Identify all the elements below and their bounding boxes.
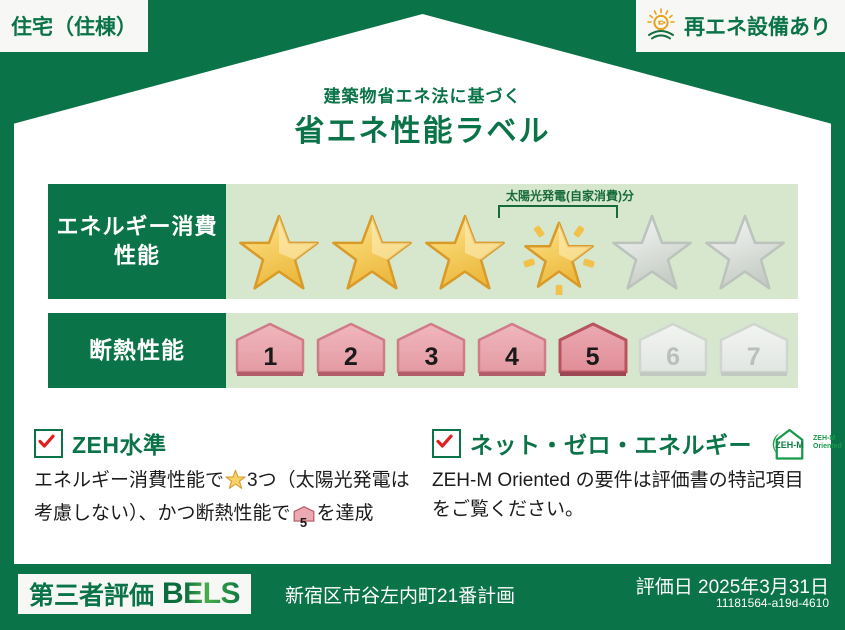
house-grade-icon: 5 <box>293 505 315 534</box>
feature-zeh-title: ZEH水準 <box>72 426 167 460</box>
energy-performance-body: 太陽光発電(自家消費)分 <box>226 184 798 299</box>
star-empty <box>610 211 694 295</box>
bels-energy-label: 住宅（住棟） 再エネ設備あ <box>0 0 845 630</box>
star-icon <box>225 469 246 500</box>
grade-house-filled: 2 <box>314 320 388 380</box>
grade-house-empty: 7 <box>717 320 791 380</box>
renewable-energy-badge: 再エネ設備あり <box>636 0 845 52</box>
bels-certification-mark: 第三者評価 BELS <box>18 574 251 614</box>
zeh-desc-part1: エネルギー消費性能で <box>34 470 224 491</box>
grade-number: 5 <box>556 343 630 372</box>
star-empty <box>703 211 787 295</box>
check-icon <box>432 429 461 458</box>
zeh-m-sub-line2: Oriented <box>813 443 842 450</box>
zeh-m-logo-sub: ZEH-M Oriented <box>813 435 842 451</box>
svg-text:ZEH-M: ZEH-M <box>775 440 804 450</box>
zeh-m-logo: ZEH-M ZEH-M Oriented <box>766 427 842 460</box>
grade-house-filled: 1 <box>233 320 307 380</box>
star-filled <box>237 211 321 295</box>
feature-nze-header: ネット・ゼロ・エネルギー ZEH-M ZEH-M Oriented <box>432 428 817 458</box>
grade-number: 6 <box>636 343 710 372</box>
renewable-badge-label: 再エネ設備あり <box>684 11 831 41</box>
grade-house-filled: 3 <box>394 320 468 380</box>
energy-performance-label: エネルギー消費性能 <box>48 184 226 299</box>
bels-en-logo: BELS <box>162 577 240 611</box>
document-id: 11181564-a19d-4610 <box>716 596 829 610</box>
check-icon <box>34 429 63 458</box>
house-grade-number: 5 <box>293 513 315 533</box>
grade-number: 3 <box>394 343 468 372</box>
grade-house-empty: 6 <box>636 320 710 380</box>
star-filled <box>330 211 414 295</box>
insulation-performance-row: 断熱性能 1 <box>48 313 798 388</box>
insulation-performance-label: 断熱性能 <box>48 313 226 388</box>
page-title: 省エネ性能ラベル <box>0 106 845 150</box>
grade-house-filled: 4 <box>475 320 549 380</box>
grade-number: 2 <box>314 343 388 372</box>
evaluation-date: 評価日 2025年3月31日 <box>636 572 829 599</box>
energy-performance-row: エネルギー消費性能 太陽光発電(自家消費)分 <box>48 184 798 299</box>
zeh-m-sub-line1: ZEH-M <box>813 435 835 442</box>
star-filled-sparkle <box>517 211 601 295</box>
solar-annotation-text: 太陽光発電(自家消費)分 <box>470 187 670 204</box>
bels-jp-label: 第三者評価 <box>29 576 154 612</box>
insulation-performance-body: 1 2 3 <box>226 313 798 388</box>
grade-number: 7 <box>717 343 791 372</box>
footer: 第三者評価 BELS 新宿区市谷左内町21番計画 評価日 2025年3月31日 … <box>0 564 845 630</box>
feature-nze-description: ZEH-M Oriented の要件は評価書の特記項目をご覧ください。 <box>432 467 817 525</box>
label-subtitle: 建築物省エネ法に基づく <box>0 82 845 107</box>
feature-net-zero-energy: ネット・ゼロ・エネルギー ZEH-M ZEH-M Oriented ZEH-M … <box>432 428 817 525</box>
star-rating <box>226 211 798 295</box>
grade-house-achieved: 5 <box>556 320 630 380</box>
grade-number: 4 <box>475 343 549 372</box>
solar-bulb-icon <box>644 7 678 46</box>
category-tag-label: 住宅（住棟） <box>11 11 137 41</box>
grade-number: 1 <box>233 343 307 372</box>
feature-zeh-header: ZEH水準 <box>34 428 414 458</box>
property-address: 新宿区市谷左内町21番計画 <box>285 574 515 614</box>
zeh-desc-part3: を達成 <box>317 503 374 524</box>
feature-zeh-description: エネルギー消費性能で3つ（太陽光発電は考慮しない）、かつ断熱性能で5を達成 <box>34 467 414 534</box>
star-filled <box>423 211 507 295</box>
feature-nze-title: ネット・ゼロ・エネルギー <box>470 426 752 460</box>
insulation-grade-scale: 1 2 3 <box>226 320 798 380</box>
feature-zeh-standard: ZEH水準 エネルギー消費性能で3つ（太陽光発電は考慮しない）、かつ断熱性能で5… <box>34 428 414 534</box>
category-tag: 住宅（住棟） <box>0 0 148 52</box>
